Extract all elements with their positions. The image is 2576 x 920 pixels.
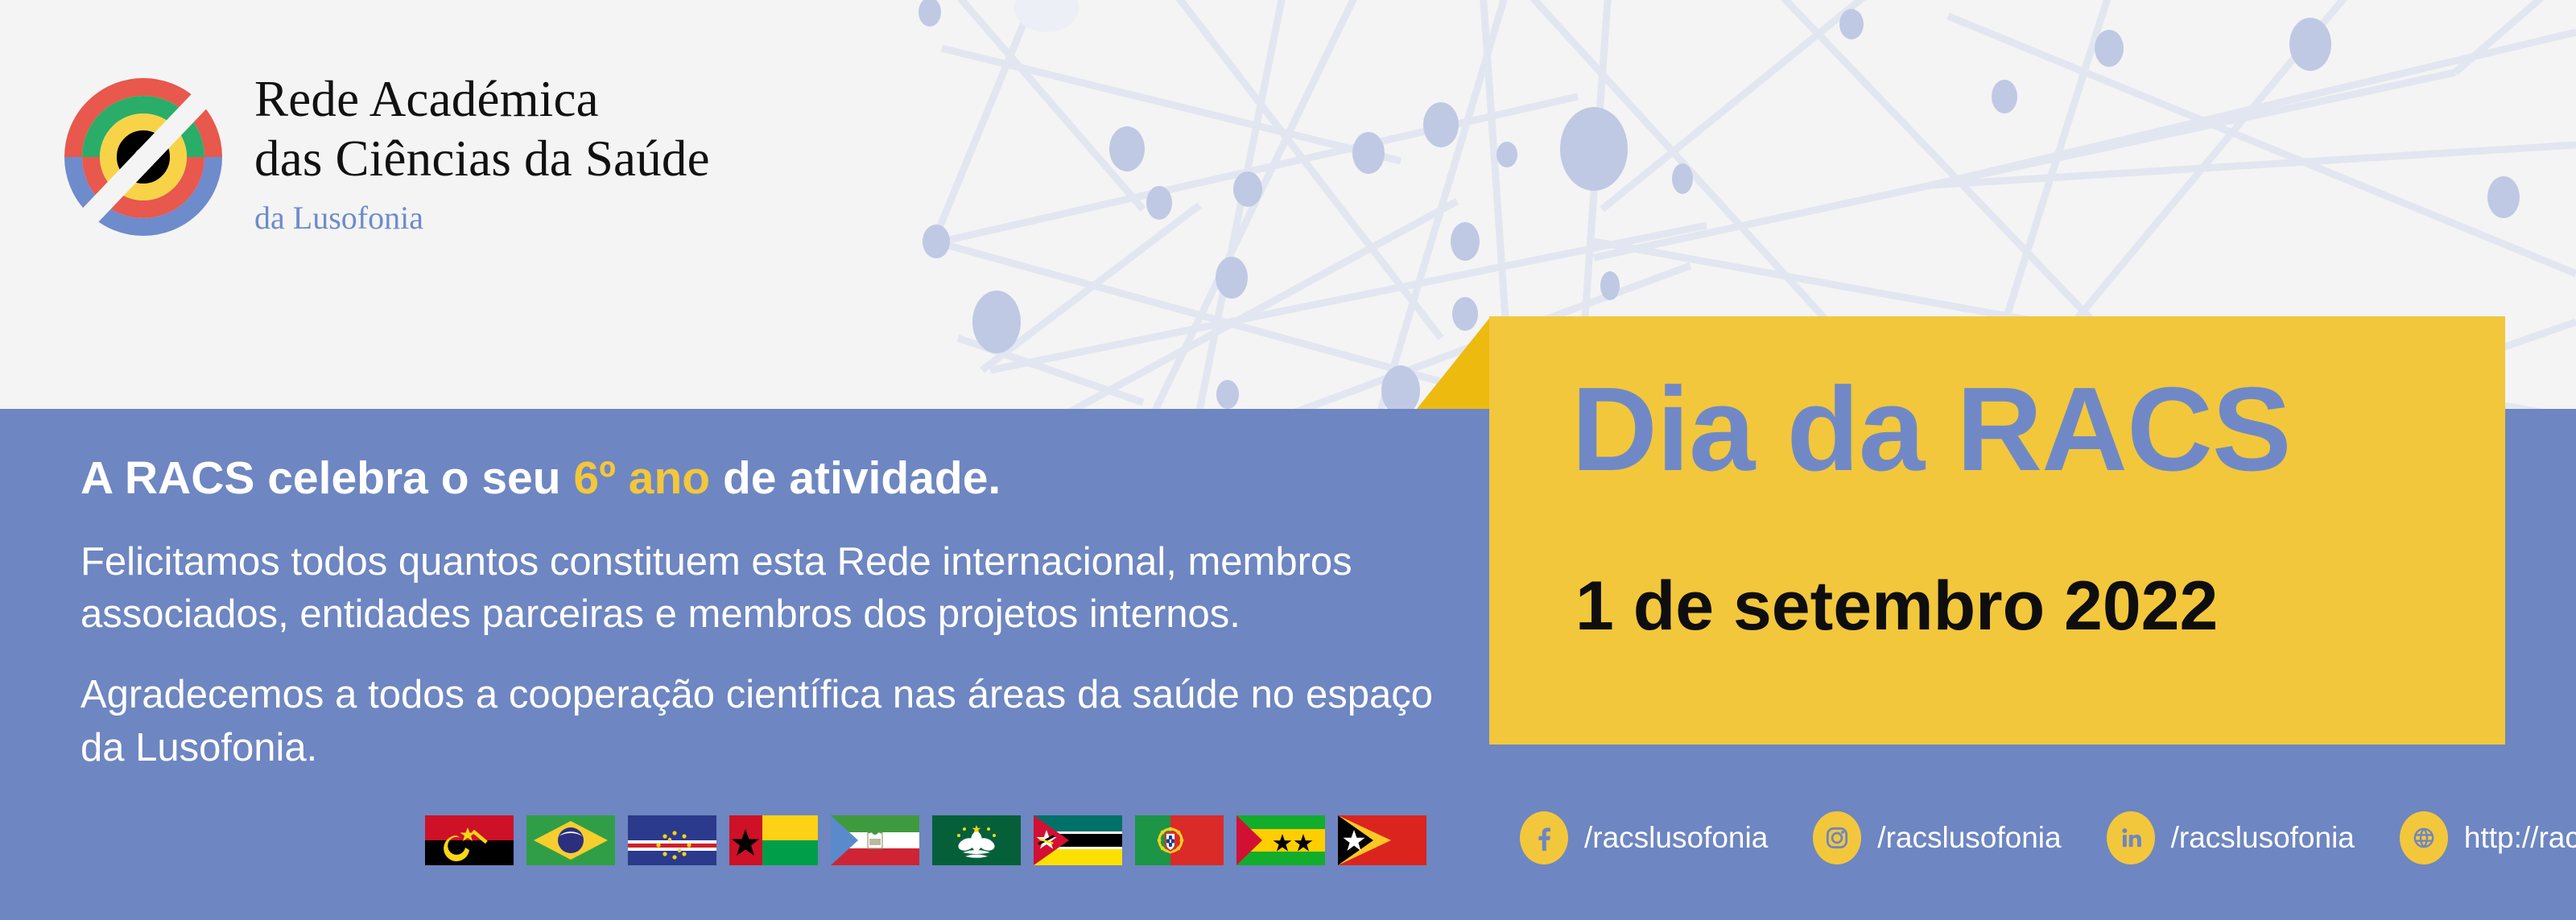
flag-brazil-icon — [526, 815, 615, 865]
flag-guinea-bissau-icon — [729, 815, 818, 865]
flag-angola-icon — [425, 815, 514, 865]
instagram-icon — [1813, 811, 1861, 864]
website-globe-icon — [2400, 811, 2448, 864]
brand-name-line-1: Rede Académica — [254, 69, 710, 129]
brand-name-line-3: da Lusofonia — [254, 199, 710, 237]
racs-spiral-logo-icon — [63, 72, 224, 245]
social-link-instagram[interactable]: /racslusofonia — [1813, 811, 2061, 864]
message-paragraph-1: Felicitamos todos quantos constituem est… — [80, 536, 1433, 642]
flag-timor-leste-icon — [1338, 815, 1426, 865]
member-country-flags — [425, 815, 1426, 865]
linkedin-icon — [2107, 811, 2155, 864]
headline-highlight: 6º ano — [573, 452, 710, 504]
headline: A RACS celebra o seu 6º ano de atividade… — [80, 452, 1433, 505]
brand-name-line-2: das Ciências da Saúde — [254, 129, 710, 188]
social-link-linkedin[interactable]: /racslusofonia — [2107, 811, 2355, 864]
instagram-handle: /racslusofonia — [1877, 821, 2061, 855]
flag-equatorial-guinea-icon — [831, 815, 919, 865]
facebook-handle: /racslusofonia — [1584, 821, 1768, 855]
flag-macau-icon — [932, 815, 1021, 865]
social-links-row: /racslusofonia /racslusofonia — [1520, 811, 2576, 864]
facebook-icon — [1520, 811, 1568, 864]
social-link-website[interactable]: http://racslusofonia.org — [2400, 811, 2576, 864]
flag-cape-verde-icon — [628, 815, 716, 865]
flag-mozambique-icon — [1034, 815, 1122, 865]
brand-logo-block: Rede Académica das Ciências da Saúde da … — [63, 50, 710, 245]
linkedin-handle: /racslusofonia — [2171, 821, 2355, 855]
website-url: http://racslusofonia.org — [2464, 821, 2576, 855]
brand-wordmark: Rede Académica das Ciências da Saúde da … — [254, 50, 710, 237]
headline-text-after: de atividade. — [710, 452, 1001, 504]
flag-sao-tome-principe-icon — [1236, 815, 1325, 865]
event-date: 1 de setembro 2022 — [1575, 571, 2218, 641]
message-block: A RACS celebra o seu 6º ano de atividade… — [80, 452, 1433, 802]
headline-text-before: A RACS celebra o seu — [80, 452, 573, 504]
social-link-facebook[interactable]: /racslusofonia — [1520, 811, 1768, 864]
message-paragraph-2: Agradecemos a todos a cooperação científ… — [80, 669, 1433, 774]
flag-portugal-icon — [1135, 815, 1224, 865]
racs-anniversary-banner: Rede Académica das Ciências da Saúde da … — [0, 0, 2576, 920]
event-title: Dia da RACS — [1571, 370, 2291, 489]
